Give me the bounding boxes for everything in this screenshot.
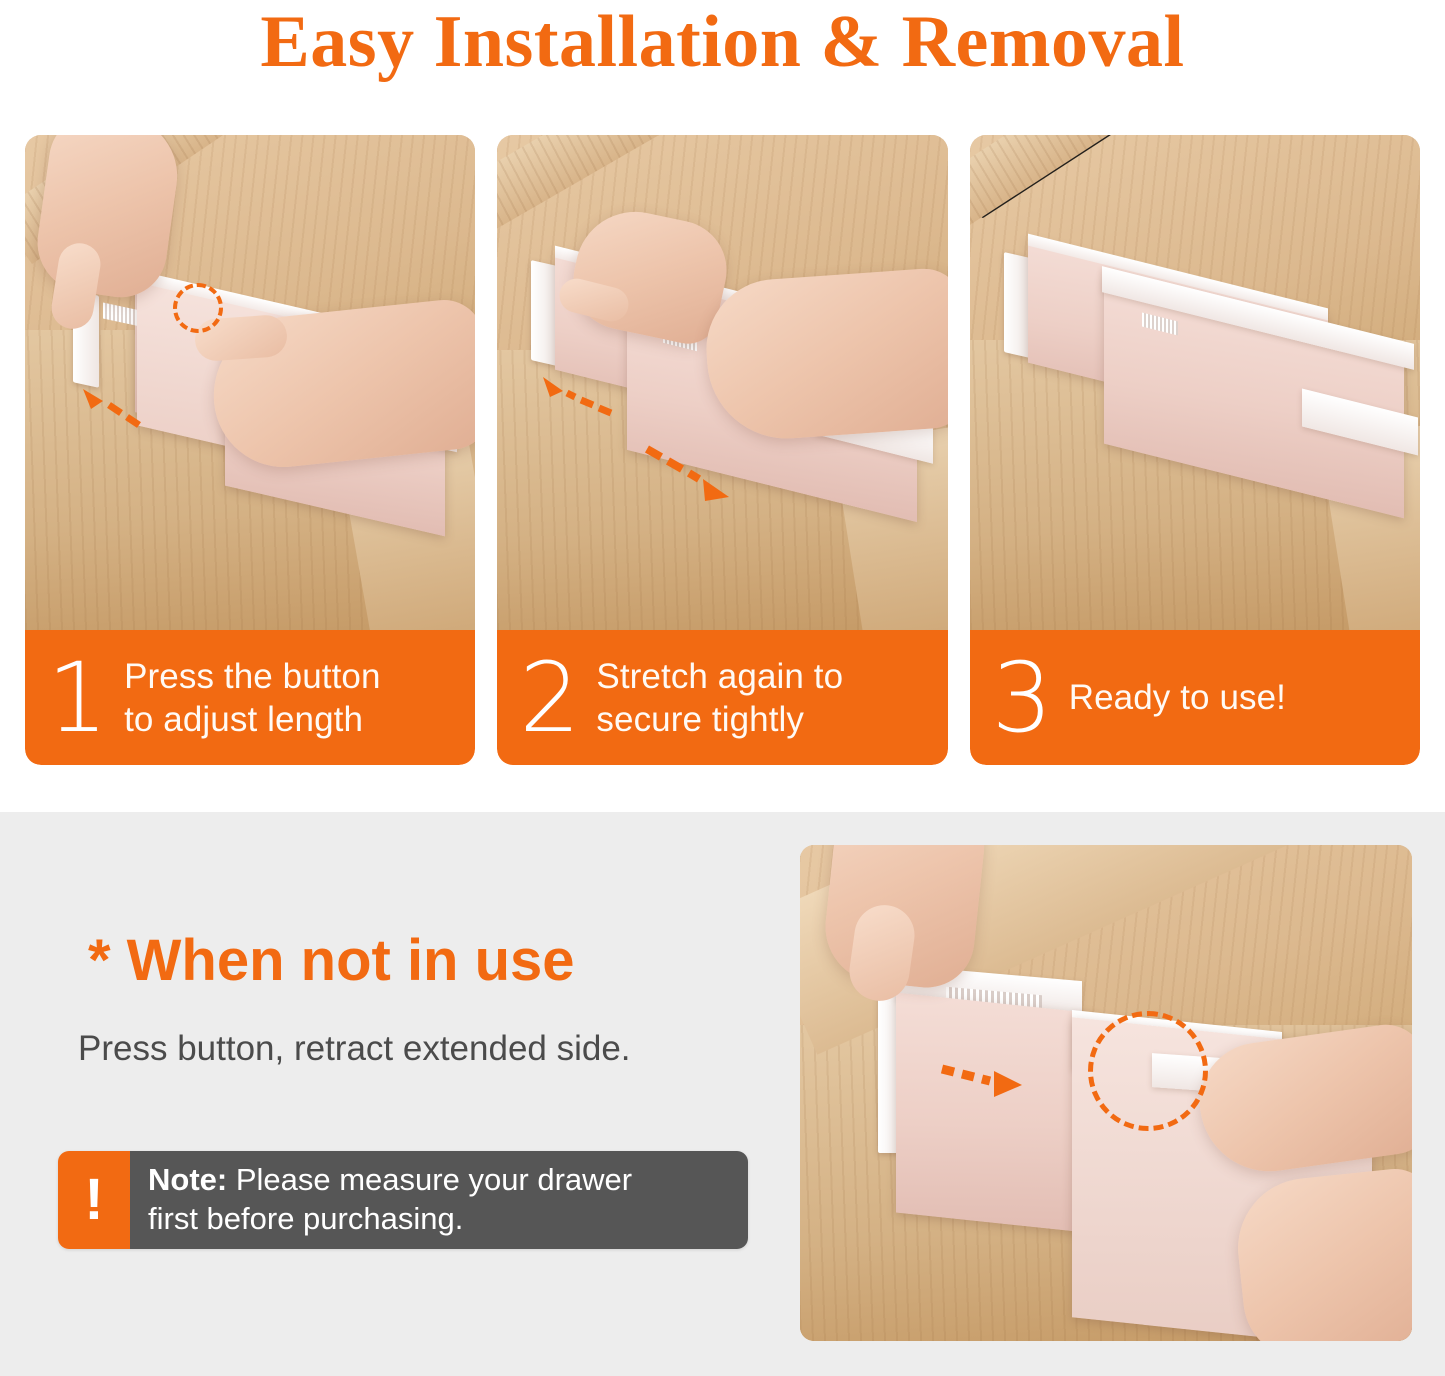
exclamation-icon: ! [58,1151,130,1249]
step-3-text: Ready to use! [1069,676,1286,719]
when-not-in-use-subtext: Press button, retract extended side. [78,1028,631,1070]
note-line2: first before purchasing. [148,1201,463,1236]
right-hand [702,266,948,444]
step-1-line2: to adjust length [124,698,380,741]
arrow-left-icon [537,373,617,421]
step-card-1: 1 Press the button to adjust length [25,135,475,765]
step-card-3: 3 Ready to use! [970,135,1420,765]
divider-extended-rail [896,992,1096,1233]
note-line1-rest: Please measure your drawer [227,1162,632,1197]
retract-photo [800,845,1412,1341]
step-1-line1: Press the button [124,657,380,696]
top-section: Easy Installation & Removal [0,0,1445,812]
step-1-photo [25,135,475,630]
when-not-in-use-heading: * When not in use [88,930,575,992]
step-2-line1: Stretch again to [596,657,843,696]
divider-left-endcap [1004,252,1030,358]
note-bold-prefix: Note: [148,1162,227,1197]
step-2-line2: secure tightly [596,698,843,741]
step-1-text: Press the button to adjust length [124,655,380,741]
note-box: ! Note: Please measure your drawer first… [58,1151,748,1249]
arrow-right-icon [938,1055,1028,1111]
page-title: Easy Installation & Removal [0,2,1445,82]
divider-left-endcap [531,260,557,366]
button-highlight-circle-icon [1088,1011,1208,1131]
step-3-number: 3 [992,650,1053,746]
step-2-caption: 2 Stretch again to secure tightly [497,630,947,765]
note-text: Note: Please measure your drawer first b… [130,1151,748,1249]
steps-row: 1 Press the button to adjust length [25,135,1420,765]
step-2-text: Stretch again to secure tightly [596,655,843,741]
step-3-photo [970,135,1420,630]
arrow-right-icon [643,443,735,505]
step-3-caption: 3 Ready to use! [970,630,1420,765]
step-3-line1: Ready to use! [1069,678,1286,717]
step-card-2: 2 Stretch again to secure tightly [497,135,947,765]
step-1-caption: 1 Press the button to adjust length [25,630,475,765]
arrow-left-icon [77,383,147,433]
button-highlight-circle-icon [173,283,223,333]
step-2-number: 2 [519,650,580,746]
step-2-photo [497,135,947,630]
step-1-number: 1 [47,650,108,746]
